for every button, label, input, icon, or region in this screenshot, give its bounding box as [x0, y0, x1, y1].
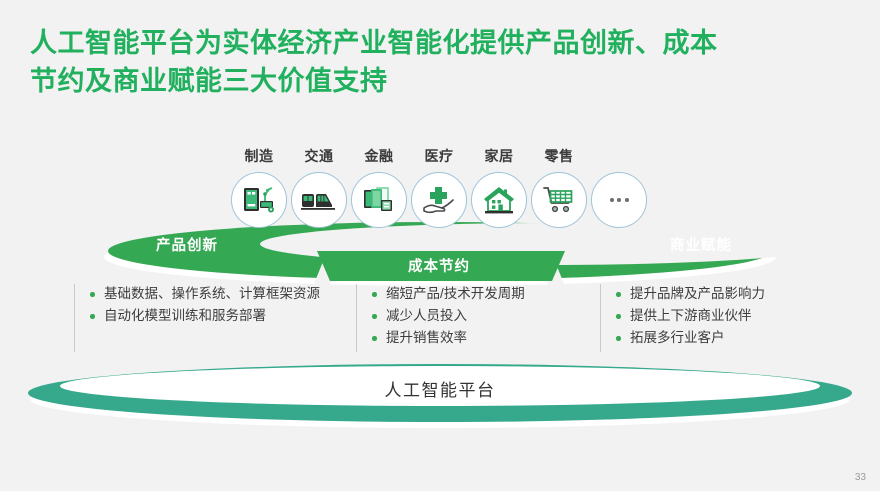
list-item: 缩短产品/技术开发周期 — [371, 284, 578, 304]
industry-label: 制造 — [228, 146, 290, 166]
benefit-column-product-innovation: 基础数据、操作系统、计算框架资源 自动化模型训练和服务部署 — [74, 284, 332, 352]
benefit-column-business-empowerment: 提升品牌及产品影响力 提供上下游商业伙伴 拓展多行业客户 — [600, 284, 814, 352]
industry-item-manufacturing[interactable]: 制造 — [228, 146, 290, 228]
house-icon — [471, 172, 527, 228]
industry-item-medical[interactable]: 医疗 — [408, 146, 470, 228]
industry-item-retail[interactable]: 零售 — [528, 146, 590, 228]
list-item: 减少人员投入 — [371, 306, 578, 326]
bullet-list: 缩短产品/技术开发周期 减少人员投入 提升销售效率 — [371, 284, 578, 348]
industry-label — [588, 146, 650, 166]
train-icon — [291, 172, 347, 228]
industry-label: 零售 — [528, 146, 590, 166]
factory-machine-icon — [231, 172, 287, 228]
page-title: 人工智能平台为实体经济产业智能化提供产品创新、成本 节约及商业赋能三大价值支持 — [30, 24, 860, 101]
bullet-list: 基础数据、操作系统、计算框架资源 自动化模型训练和服务部署 — [89, 284, 332, 326]
page-number: 33 — [855, 472, 866, 483]
industry-label: 家居 — [468, 146, 530, 166]
hand-medical-cross-icon — [411, 172, 467, 228]
platform-label: 人工智能平台 — [28, 376, 852, 401]
bullet-list: 提升品牌及产品影响力 提供上下游商业伙伴 拓展多行业客户 — [615, 284, 814, 348]
list-item: 基础数据、操作系统、计算框架资源 — [89, 284, 332, 304]
ribbon-label-product-innovation: 产品创新 — [156, 234, 218, 255]
benefit-columns: 基础数据、操作系统、计算框架资源 自动化模型训练和服务部署 缩短产品/技术开发周… — [74, 284, 814, 358]
ribbon-label-business-empowerment: 商业赋能 — [670, 234, 732, 255]
list-item: 提供上下游商业伙伴 — [615, 306, 814, 326]
industry-item-finance[interactable]: 金融 — [348, 146, 410, 228]
ribbon-label-cost-saving: 成本节约 — [408, 255, 470, 276]
industry-label: 医疗 — [408, 146, 470, 166]
ellipsis-icon — [591, 172, 647, 228]
shopping-cart-icon — [531, 172, 587, 228]
list-item: 拓展多行业客户 — [615, 328, 814, 348]
industry-item-home[interactable]: 家居 — [468, 146, 530, 228]
ellipsis-dots — [610, 198, 629, 202]
list-item: 提升品牌及产品影响力 — [615, 284, 814, 304]
slide-canvas: 人工智能平台为实体经济产业智能化提供产品创新、成本 节约及商业赋能三大价值支持 … — [0, 0, 880, 491]
industry-item-transport[interactable]: 交通 — [288, 146, 350, 228]
industry-label: 金融 — [348, 146, 410, 166]
list-item: 提升销售效率 — [371, 328, 578, 348]
list-item: 自动化模型训练和服务部署 — [89, 306, 332, 326]
benefit-column-cost-saving: 缩短产品/技术开发周期 减少人员投入 提升销售效率 — [356, 284, 578, 352]
industry-item-more[interactable] — [588, 146, 650, 228]
banknotes-icon — [351, 172, 407, 228]
industry-label: 交通 — [288, 146, 350, 166]
platform-base: 人工智能平台 — [28, 364, 852, 428]
